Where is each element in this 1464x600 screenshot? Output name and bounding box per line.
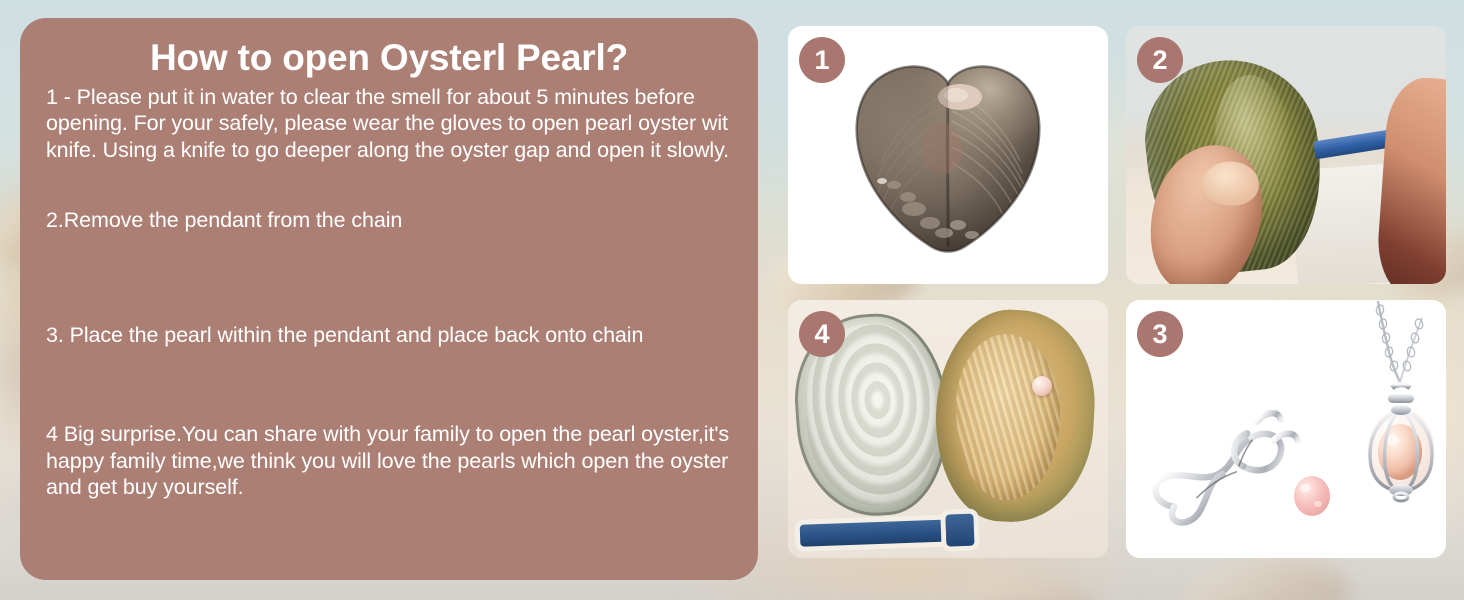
loose-pearl-icon [1294, 476, 1330, 516]
right-hand-illustration [1374, 75, 1446, 284]
instruction-step-2: 2.Remove the pendant from the chain [46, 207, 732, 233]
instruction-step-4: 4 Big surprise.You can share with your f… [46, 421, 732, 500]
oyster-shell-illustration [848, 57, 1048, 253]
oyster-meat [956, 334, 1060, 500]
infographic-stage: How to open Oysterl Pearl? 1 - Please pu… [0, 0, 1464, 600]
pearl-icon [1032, 376, 1052, 396]
card-pendant-necklace[interactable]: 3 [1126, 300, 1446, 558]
instruction-panel: How to open Oysterl Pearl? 1 - Please pu… [20, 18, 758, 580]
card-opened-oyster[interactable]: 4 [788, 300, 1108, 558]
instruction-step-1: 1 - Please put it in water to clear the … [46, 84, 732, 163]
opening-tool-illustration [800, 519, 957, 546]
instruction-step-3: 3. Place the pearl within the pendant an… [46, 322, 732, 348]
step-badge: 4 [799, 311, 845, 357]
image-card-grid: 1 2 [788, 26, 1450, 574]
card-closed-oyster[interactable]: 1 [788, 26, 1108, 284]
step-badge: 3 [1137, 311, 1183, 357]
page-title: How to open Oysterl Pearl? [46, 38, 732, 78]
step-badge: 1 [799, 37, 845, 83]
step-badge: 2 [1137, 37, 1183, 83]
card-hand-holding-oyster[interactable]: 2 [1126, 26, 1446, 284]
